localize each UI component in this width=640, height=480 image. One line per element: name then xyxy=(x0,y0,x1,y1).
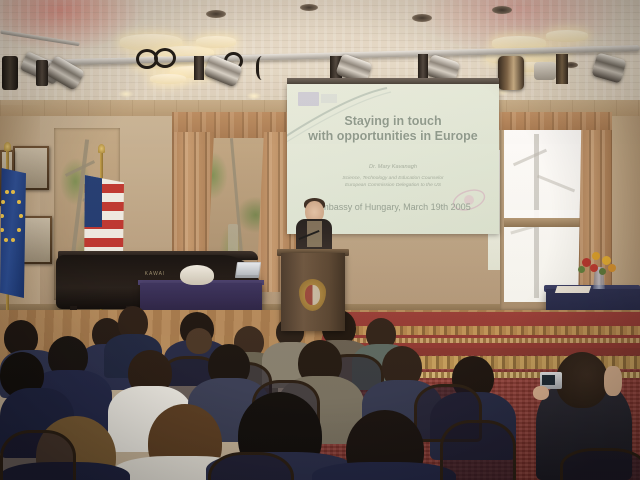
flag-finial xyxy=(4,142,11,151)
white-object-on-table xyxy=(180,265,214,285)
european-commission-logo xyxy=(298,92,319,106)
audience-chair xyxy=(440,420,516,480)
window-blind xyxy=(504,210,590,218)
flower-bouquet xyxy=(578,248,622,276)
recessed-fixture xyxy=(206,10,226,18)
tree-branch xyxy=(513,149,547,166)
audience-chair xyxy=(0,430,76,480)
spotlight-yoke xyxy=(36,60,48,86)
spotlight-fixture xyxy=(2,56,18,90)
european-union-flag xyxy=(0,168,26,298)
recessed-fixture xyxy=(492,6,512,14)
logo-wordmark xyxy=(321,94,337,103)
audience-torso-foreground xyxy=(312,462,456,480)
slide-affiliation-line2: European Commission Delegation to the US xyxy=(293,183,493,188)
cable-drop xyxy=(256,56,271,80)
photographer-head xyxy=(556,352,608,408)
photographer-face xyxy=(604,366,622,396)
cable-coil xyxy=(154,48,176,68)
us-flag-union xyxy=(84,175,102,227)
flag-finial xyxy=(98,144,105,153)
presentation-laptop[interactable] xyxy=(235,262,261,278)
wooden-podium xyxy=(281,253,345,331)
papers-on-table xyxy=(555,286,591,293)
spotlight-yoke xyxy=(194,56,204,80)
spotlight-fixture xyxy=(591,52,626,83)
coat-of-arms-shield xyxy=(305,285,320,305)
spotlight-fixture xyxy=(498,56,524,90)
hungarian-coat-of-arms xyxy=(299,279,326,311)
spotlight-yoke xyxy=(418,54,428,78)
recessed-fixture xyxy=(412,14,432,22)
slide-title-line1: Staying in touch xyxy=(293,114,493,129)
window-blind-bar xyxy=(504,218,590,227)
spotlight-yoke xyxy=(556,54,568,84)
audience-chair xyxy=(560,448,640,480)
photographer-hand xyxy=(533,386,549,400)
recessed-fixture xyxy=(300,4,318,11)
slide-presenter-name: Dr. Mary Kavanagh xyxy=(293,164,493,170)
audience-head xyxy=(186,328,212,354)
window-right-glass xyxy=(504,130,590,302)
laptop-screen xyxy=(236,263,260,275)
downlight xyxy=(118,90,134,98)
slide-affiliation-line1: Science, Technology and Education Counse… xyxy=(293,176,493,181)
tree-branch xyxy=(537,175,575,193)
truss-bar-angled xyxy=(0,30,80,46)
camera-lcd-screen xyxy=(542,375,555,385)
piano-brand-label: KAWAI xyxy=(134,271,176,279)
presentation-photo-scene: Staying in touch with opportunities in E… xyxy=(0,0,640,480)
downlight xyxy=(246,92,262,100)
spotlight-fixture xyxy=(534,62,556,80)
window-valance xyxy=(496,112,612,130)
slide-title-line2: with opportunities in Europe xyxy=(293,129,493,144)
